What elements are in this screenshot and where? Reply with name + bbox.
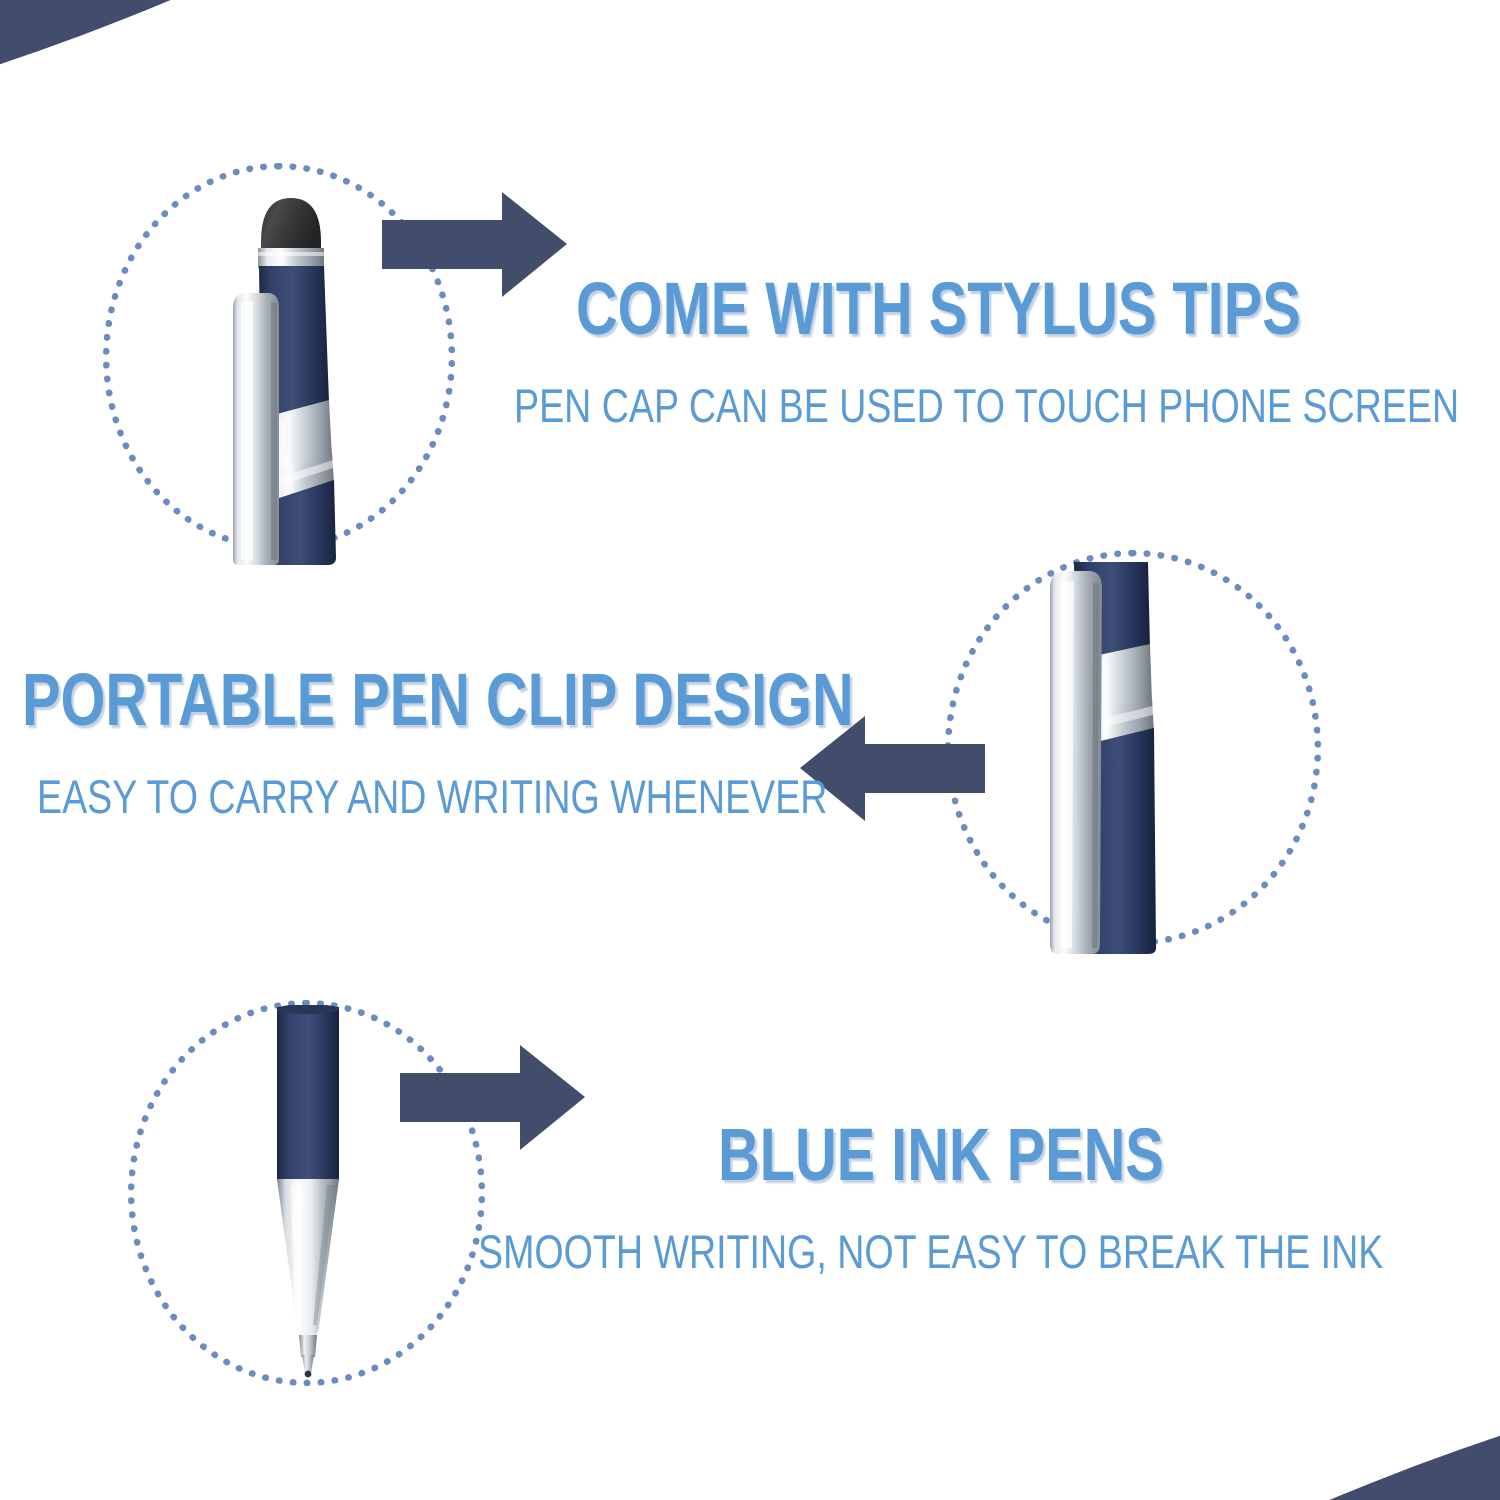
feature-text-stylus-tips: COME WITH STYLUS TIPS PEN CAP CAN BE USE… xyxy=(576,272,1500,429)
feature-text-pen-clip: PORTABLE PEN CLIP DESIGN EASY TO CARRY A… xyxy=(22,663,1088,820)
subline-blue-ink: SMOOTH WRITING, NOT EASY TO BREAK THE IN… xyxy=(478,1228,1383,1275)
pen-stylus-tip-image xyxy=(225,190,355,565)
bottom-right-corner-swoosh xyxy=(440,1285,1500,1500)
headline-blue-ink: BLUE INK PENS xyxy=(718,1118,1414,1192)
headline-stylus-tips: COME WITH STYLUS TIPS xyxy=(576,272,1449,346)
arrow-right-writing-tip xyxy=(400,1045,585,1150)
arrow-right-stylus-tip xyxy=(382,192,567,297)
feature-text-blue-ink: BLUE INK PENS SMOOTH WRITING, NOT EASY T… xyxy=(718,1118,1500,1275)
pen-writing-tip-image xyxy=(253,1005,363,1380)
top-left-corner-swoosh xyxy=(0,0,1060,215)
subline-pen-clip: EASY TO CARRY AND WRITING WHENEVER xyxy=(37,773,878,820)
subline-stylus-tips: PEN CAP CAN BE USED TO TOUCH PHONE SCREE… xyxy=(514,382,1459,429)
product-feature-infographic: COME WITH STYLUS TIPS PEN CAP CAN BE USE… xyxy=(0,0,1500,1500)
headline-pen-clip: PORTABLE PEN CLIP DESIGN xyxy=(22,663,854,737)
